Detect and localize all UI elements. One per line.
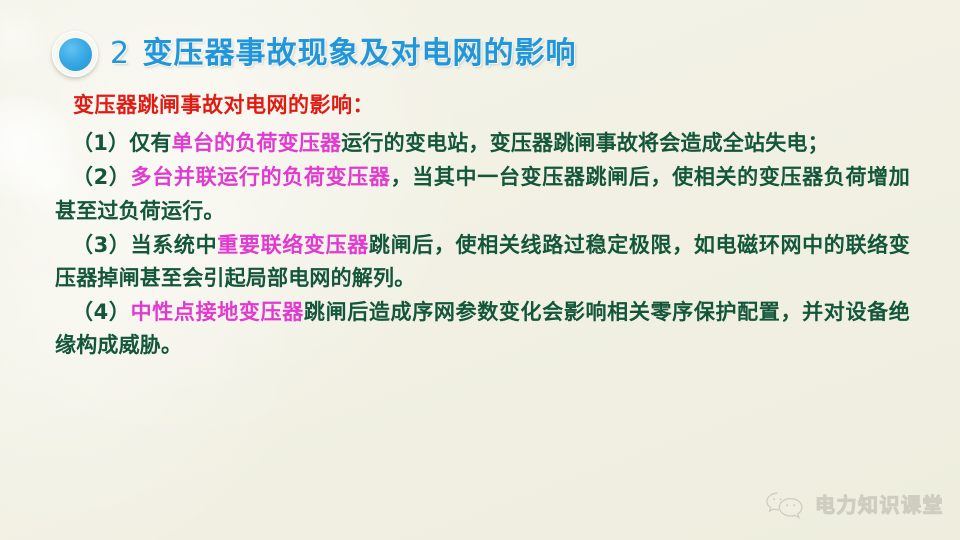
page-title: 2 变压器事故现象及对电网的影响 xyxy=(110,39,577,69)
paragraph-list: （1）仅有单台的负荷变压器运行的变电站，变压器跳闸事故将会造成全站失电；（2）多… xyxy=(55,127,910,362)
decorative-blob-top xyxy=(0,8,50,78)
paragraph-text: 运行的变电站，变压器跳闸事故将会造成全站失电； xyxy=(341,131,829,155)
body-paragraph: （1）仅有单台的负荷变压器运行的变电站，变压器跳闸事故将会造成全站失电； xyxy=(55,127,910,160)
slide-body: 变压器跳闸事故对电网的影响： （1）仅有单台的负荷变压器运行的变电站，变压器跳闸… xyxy=(55,92,910,363)
blue-circle-bullet-icon xyxy=(52,31,98,77)
highlighted-term: 单台的负荷变压器 xyxy=(172,131,342,155)
body-paragraph: （2）多台并联运行的负荷变压器，当其中一台变压器跳闸后，使相关的变压器负荷增加甚… xyxy=(55,161,910,227)
watermark: 电力知识课堂 xyxy=(764,490,944,520)
slide-title-row: 2 变压器事故现象及对电网的影响 xyxy=(52,26,577,82)
watermark-text: 电力知识课堂 xyxy=(815,495,944,515)
slide-canvas: 2 变压器事故现象及对电网的影响 变压器跳闸事故对电网的影响： （1）仅有单台的… xyxy=(0,0,960,540)
highlighted-term: 中性点接地变压器 xyxy=(131,300,304,324)
highlighted-term: 多台并联运行的负荷变压器 xyxy=(131,165,391,189)
wechat-logo-icon xyxy=(764,490,806,520)
title-index: 2 xyxy=(110,36,131,71)
body-paragraph: （4）中性点接地变压器跳闸后造成序网参数变化会影响相关零序保护配置，并对设备绝缘… xyxy=(55,296,910,362)
paragraph-text: 仅有 xyxy=(129,131,171,155)
paragraph-marker: （2） xyxy=(72,165,131,189)
paragraph-text: 当系统中 xyxy=(131,233,218,257)
paragraph-marker: （1） xyxy=(72,131,129,155)
body-subtitle: 变压器跳闸事故对电网的影响： xyxy=(73,92,910,118)
title-heading: 变压器事故现象及对电网的影响 xyxy=(143,36,577,71)
paragraph-marker: （3） xyxy=(72,233,131,257)
paragraph-marker: （4） xyxy=(72,300,131,324)
body-paragraph: （3）当系统中重要联络变压器跳闸后，使相关线路过稳定极限，如电磁环网中的联络变压… xyxy=(55,229,910,295)
highlighted-term: 重要联络变压器 xyxy=(217,233,369,257)
